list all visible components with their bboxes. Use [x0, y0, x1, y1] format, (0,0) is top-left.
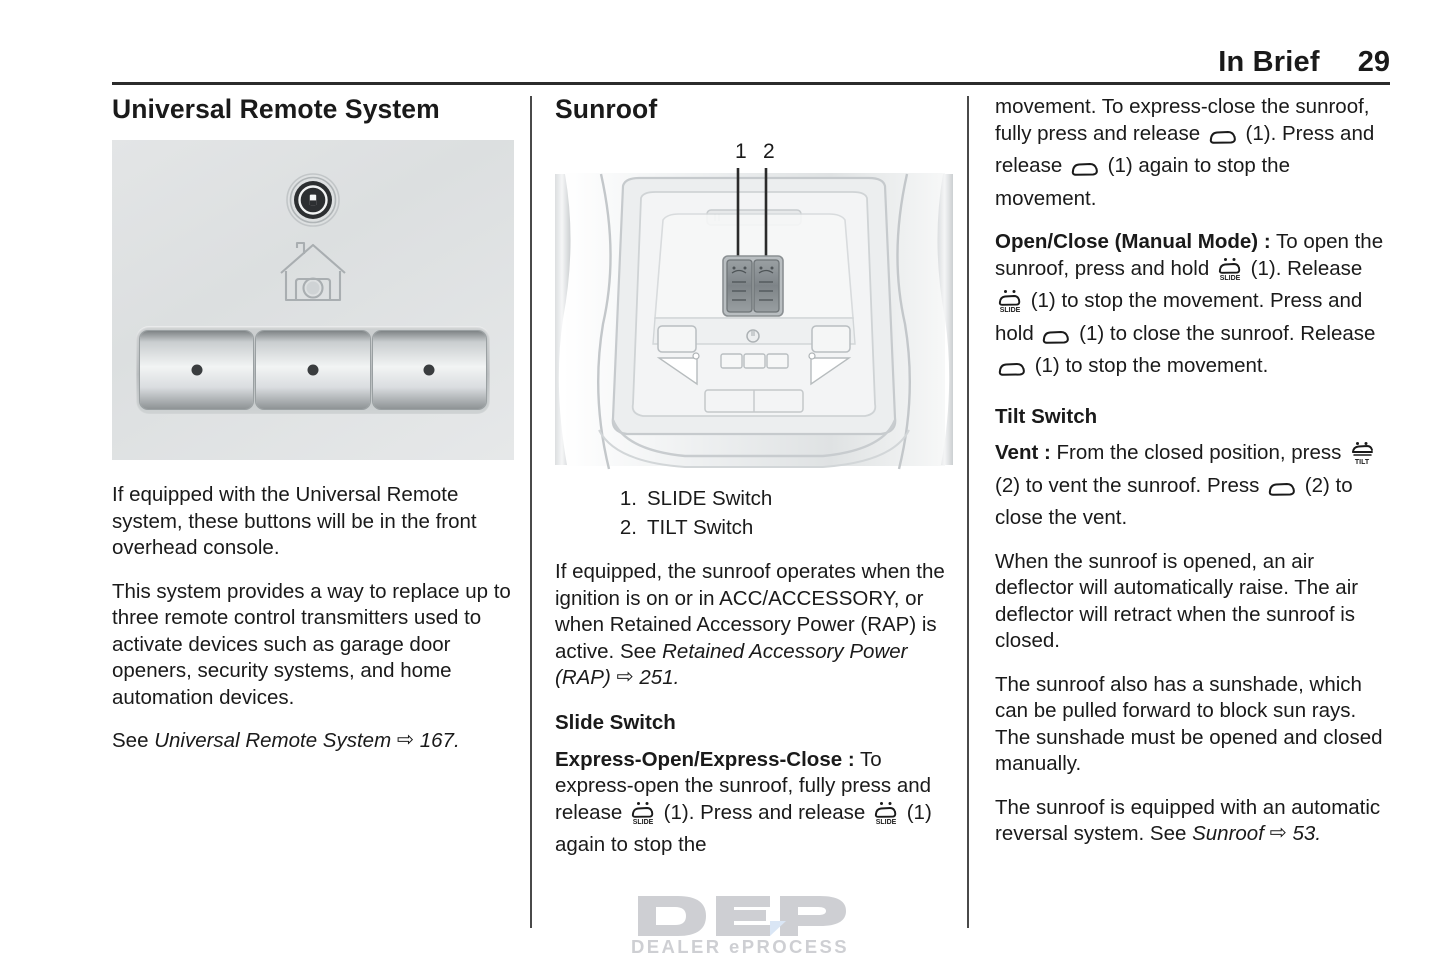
vent-text-a: From the closed position, press: [1051, 441, 1347, 464]
list-item: 2. TILT Switch: [613, 513, 953, 542]
close-sunroof-icon: [1070, 159, 1100, 186]
paragraph-rap-note: If equipped, the sunroof operates when t…: [555, 559, 953, 692]
manual-text-e: (1) to stop the movement.: [1029, 354, 1268, 377]
vent-text-b: (2) to vent the sunroof. Press: [995, 474, 1265, 497]
see-label: See: [112, 729, 148, 752]
slide-switch-icon: SLIDE: [873, 801, 899, 833]
header-divider-rule: [112, 82, 1390, 85]
remote-button-group: [136, 326, 490, 414]
slide-switch-icon: SLIDE: [1217, 257, 1243, 289]
page-number: 29: [1358, 46, 1390, 79]
paragraph-system-description: This system provides a way to replace up…: [112, 579, 514, 712]
universal-remote-buttons-illustration: [112, 140, 514, 460]
list-label: SLIDE Switch: [647, 487, 772, 510]
column-divider-2: [967, 96, 969, 928]
svg-text:SLIDE: SLIDE: [876, 819, 897, 825]
slide-switch-icon: SLIDE: [997, 289, 1023, 321]
paragraph-air-deflector: When the sunroof is opened, an air defle…: [995, 549, 1392, 655]
page-title: In Brief: [1218, 46, 1320, 79]
column-sunroof: Sunroof 1 2: [555, 94, 953, 859]
cross-reference-universal-remote: See Universal Remote System ⇨ 167.: [112, 728, 514, 755]
rap-reference-page: 251: [639, 666, 673, 689]
indicator-dot: [424, 365, 435, 376]
subheading-slide-switch: Slide Switch: [555, 711, 953, 736]
paragraph-sunshade: The sunroof also has a sunshade, which c…: [995, 672, 1392, 778]
slide-switch-icon: SLIDE: [630, 801, 656, 833]
list-number: 2.: [611, 513, 637, 542]
sunroof-callout-list: 1. SLIDE Switch 2. TILT Switch: [555, 484, 953, 542]
column-sunroof-continued: movement. To express-close the sunroof, …: [995, 94, 1392, 865]
list-item: 1. SLIDE Switch: [613, 484, 953, 513]
rap-reference-period: .: [674, 666, 680, 689]
term-colon: :: [1264, 230, 1271, 253]
callout-label-1: 1: [735, 140, 747, 164]
paragraph-equipped-note: If equipped with the Universal Remote sy…: [112, 482, 514, 562]
svg-text:SLIDE: SLIDE: [1000, 307, 1021, 313]
term-open-close-manual-mode: Open/Close (Manual Mode): [995, 230, 1258, 253]
heading-sunroof: Sunroof: [555, 94, 953, 124]
column-divider-1: [530, 96, 532, 928]
reversal-text: The sunroof is equipped with an automati…: [995, 796, 1380, 846]
close-sunroof-icon: [1041, 327, 1071, 354]
express-text-b: (1). Press and release: [658, 801, 871, 824]
paragraph-automatic-reversal: The sunroof is equipped with an automati…: [995, 795, 1392, 848]
indicator-dot: [307, 365, 318, 376]
garage-door-opener-icon: [285, 172, 341, 233]
heading-universal-remote-system: Universal Remote System: [112, 94, 514, 124]
column-universal-remote: Universal Remote System: [112, 94, 514, 772]
reference-arrow-icon: ⇨: [617, 664, 634, 691]
term-colon: :: [848, 748, 855, 771]
remote-button-1[interactable]: [140, 331, 253, 409]
callout-label-2: 2: [763, 140, 775, 164]
close-sunroof-icon: [1208, 127, 1238, 154]
subheading-tilt-switch: Tilt Switch: [995, 405, 1392, 430]
reference-period: .: [454, 729, 460, 752]
reference-arrow-icon: ⇨: [1270, 820, 1287, 847]
list-label: TILT Switch: [647, 516, 753, 539]
reversal-reference-page: 53: [1293, 822, 1316, 845]
reference-target: Universal Remote System: [154, 729, 391, 752]
close-sunroof-icon: [1267, 479, 1297, 506]
overhead-console-sunroof-switches-illustration: 1 2: [555, 140, 953, 470]
house-icon: [276, 238, 350, 313]
svg-text:SLIDE: SLIDE: [633, 819, 654, 825]
watermark-text: DEALER ePROCESS: [620, 936, 860, 958]
term-vent: Vent: [995, 441, 1038, 464]
reference-arrow-icon: ⇨: [397, 727, 414, 754]
tilt-switch-icon: TILT: [1349, 441, 1375, 473]
remote-button-3[interactable]: [373, 331, 486, 409]
svg-text:TILT: TILT: [1355, 459, 1370, 465]
indicator-dot: [191, 365, 202, 376]
list-number: 1.: [611, 484, 637, 513]
page-header: In Brief 29: [112, 46, 1390, 79]
paragraph-express-continuation: movement. To express-close the sunroof, …: [995, 94, 1392, 212]
svg-text:SLIDE: SLIDE: [1220, 275, 1241, 281]
term-express-open-close: Express-Open/Express-Close: [555, 748, 842, 771]
paragraph-vent: Vent : From the closed position, press T…: [995, 440, 1392, 532]
manual-text-d: (1) to close the sunroof. Release: [1073, 322, 1375, 345]
term-colon: :: [1044, 441, 1051, 464]
manual-text-b: (1). Release: [1245, 257, 1362, 280]
close-sunroof-icon: [997, 359, 1027, 386]
reversal-reference-target: Sunroof: [1192, 822, 1264, 845]
console-drawing: [555, 168, 953, 470]
content-columns: Universal Remote System: [0, 94, 1445, 934]
remote-button-2[interactable]: [256, 331, 369, 409]
reference-page: 167: [420, 729, 454, 752]
reversal-reference-period: .: [1315, 822, 1321, 845]
paragraph-express-open-close: Express-Open/Express-Close : To express-…: [555, 747, 953, 859]
paragraph-manual-mode: Open/Close (Manual Mode) : To open the s…: [995, 229, 1392, 386]
